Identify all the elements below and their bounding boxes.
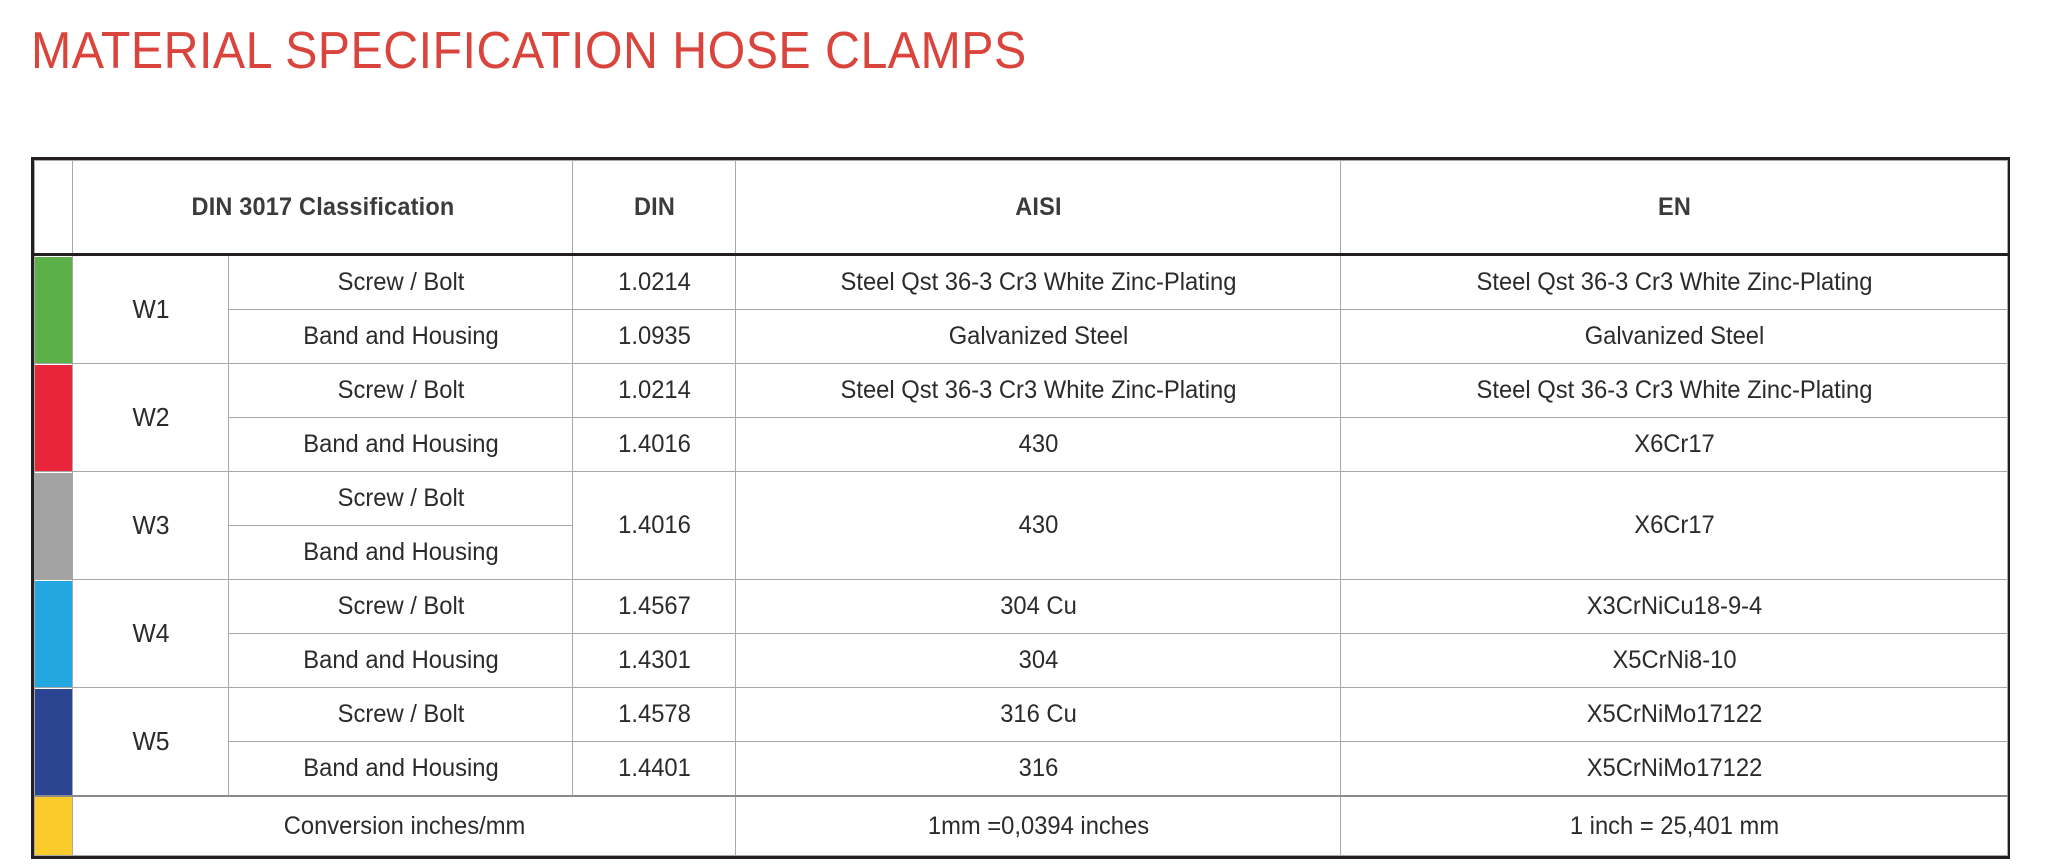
aisi-value: 316 Cu bbox=[751, 688, 1326, 742]
table-row: Band and Housing1.0935Galvanized SteelGa… bbox=[35, 310, 2008, 364]
part-name: Band and Housing bbox=[237, 742, 564, 797]
din-value: 1.4016 bbox=[577, 418, 732, 472]
header-aisi: AISI bbox=[754, 161, 1323, 255]
aisi-value: Steel Qst 36-3 Cr3 White Zinc-Plating bbox=[751, 255, 1326, 310]
page-title: MATERIAL SPECIFICATION HOSE CLAMPS bbox=[31, 20, 1027, 82]
din-value: 1.4016 bbox=[577, 472, 732, 580]
swatch-bar bbox=[35, 473, 73, 579]
header-din3017-classification: DIN 3017 Classification bbox=[88, 161, 558, 255]
class-code-w1: W1 bbox=[76, 255, 224, 364]
color-key-swatch-w3 bbox=[35, 472, 73, 580]
part-name: Band and Housing bbox=[237, 310, 564, 364]
header-din: DIN bbox=[577, 161, 730, 255]
conversion-label: Conversion inches/mm bbox=[89, 796, 719, 856]
table-row: Band and Housing1.4301304X5CrNi8-10 bbox=[35, 634, 2008, 688]
header-color-key-spacer bbox=[36, 161, 72, 255]
din-value: 1.0935 bbox=[577, 310, 732, 364]
table-row: W2Screw / Bolt1.0214Steel Qst 36-3 Cr3 W… bbox=[35, 364, 2008, 418]
class-code-w2: W2 bbox=[76, 364, 224, 472]
table-row: W5Screw / Bolt1.4578316 CuX5CrNiMo17122 bbox=[35, 688, 2008, 742]
material-specification-table-wrapper: DIN 3017 Classification DIN AISI EN W1Sc… bbox=[31, 157, 2010, 859]
class-code-w3: W3 bbox=[76, 472, 224, 580]
conversion-mm-to-inches: 1mm =0,0394 inches bbox=[751, 796, 1326, 856]
din-value: 1.0214 bbox=[577, 255, 732, 310]
en-value: X6Cr17 bbox=[1357, 472, 1991, 580]
aisi-value: 304 bbox=[751, 634, 1326, 688]
en-value: Steel Qst 36-3 Cr3 White Zinc-Plating bbox=[1357, 364, 1991, 418]
aisi-value: 430 bbox=[751, 472, 1326, 580]
din-value: 1.4567 bbox=[577, 580, 732, 634]
color-key-swatch-conversion bbox=[35, 796, 73, 856]
swatch-bar bbox=[35, 689, 73, 795]
part-name: Screw / Bolt bbox=[237, 688, 564, 742]
class-code-w4: W4 bbox=[76, 580, 224, 688]
en-value: X3CrNiCu18-9-4 bbox=[1357, 580, 1991, 634]
part-name: Band and Housing bbox=[237, 418, 564, 472]
table-row: Band and Housing1.4016430X6Cr17 bbox=[35, 418, 2008, 472]
color-key-swatch-w4 bbox=[35, 580, 73, 688]
swatch-bar bbox=[35, 365, 73, 471]
en-value: Steel Qst 36-3 Cr3 White Zinc-Plating bbox=[1357, 255, 1991, 310]
part-name: Band and Housing bbox=[237, 634, 564, 688]
en-value: X6Cr17 bbox=[1357, 418, 1991, 472]
din-value: 1.4401 bbox=[577, 742, 732, 797]
en-value: X5CrNiMo17122 bbox=[1357, 688, 1991, 742]
din-value: 1.4301 bbox=[577, 634, 732, 688]
document-page: MATERIAL SPECIFICATION HOSE CLAMPS DIN 3… bbox=[0, 0, 2047, 868]
table-header: DIN 3017 Classification DIN AISI EN bbox=[35, 161, 2008, 255]
aisi-value: 304 Cu bbox=[751, 580, 1326, 634]
conversion-inch-to-mm: 1 inch = 25,401 mm bbox=[1357, 796, 1991, 856]
part-name: Screw / Bolt bbox=[237, 364, 564, 418]
aisi-value: Galvanized Steel bbox=[751, 310, 1326, 364]
aisi-value: Steel Qst 36-3 Cr3 White Zinc-Plating bbox=[751, 364, 1326, 418]
color-key-swatch-w1 bbox=[35, 255, 73, 364]
table-header-row: DIN 3017 Classification DIN AISI EN bbox=[35, 161, 2008, 255]
en-value: X5CrNiMo17122 bbox=[1357, 742, 1991, 797]
en-value: Galvanized Steel bbox=[1357, 310, 1991, 364]
table-row: Band and Housing1.4401316X5CrNiMo17122 bbox=[35, 742, 2008, 797]
part-name: Screw / Bolt bbox=[237, 255, 564, 310]
conversion-row: Conversion inches/mm1mm =0,0394 inches1 … bbox=[35, 796, 2008, 856]
table-row: W4Screw / Bolt1.4567304 CuX3CrNiCu18-9-4 bbox=[35, 580, 2008, 634]
en-value: X5CrNi8-10 bbox=[1357, 634, 1991, 688]
swatch-bar bbox=[35, 257, 73, 363]
part-name: Band and Housing bbox=[237, 526, 564, 580]
aisi-value: 316 bbox=[751, 742, 1326, 797]
table-row: W1Screw / Bolt1.0214Steel Qst 36-3 Cr3 W… bbox=[35, 255, 2008, 310]
aisi-value: 430 bbox=[751, 418, 1326, 472]
swatch-bar bbox=[35, 581, 73, 687]
part-name: Screw / Bolt bbox=[237, 580, 564, 634]
color-key-swatch-w2 bbox=[35, 364, 73, 472]
class-code-w5: W5 bbox=[76, 688, 224, 797]
part-name: Screw / Bolt bbox=[237, 472, 564, 526]
header-en: EN bbox=[1361, 161, 1988, 255]
table-body: W1Screw / Bolt1.0214Steel Qst 36-3 Cr3 W… bbox=[35, 255, 2008, 856]
din-value: 1.4578 bbox=[577, 688, 732, 742]
din-value: 1.0214 bbox=[577, 364, 732, 418]
swatch-bar bbox=[35, 797, 73, 855]
material-specification-table: DIN 3017 Classification DIN AISI EN W1Sc… bbox=[34, 160, 2008, 856]
table-row: W3Screw / Bolt1.4016430X6Cr17 bbox=[35, 472, 2008, 526]
color-key-swatch-w5 bbox=[35, 688, 73, 797]
